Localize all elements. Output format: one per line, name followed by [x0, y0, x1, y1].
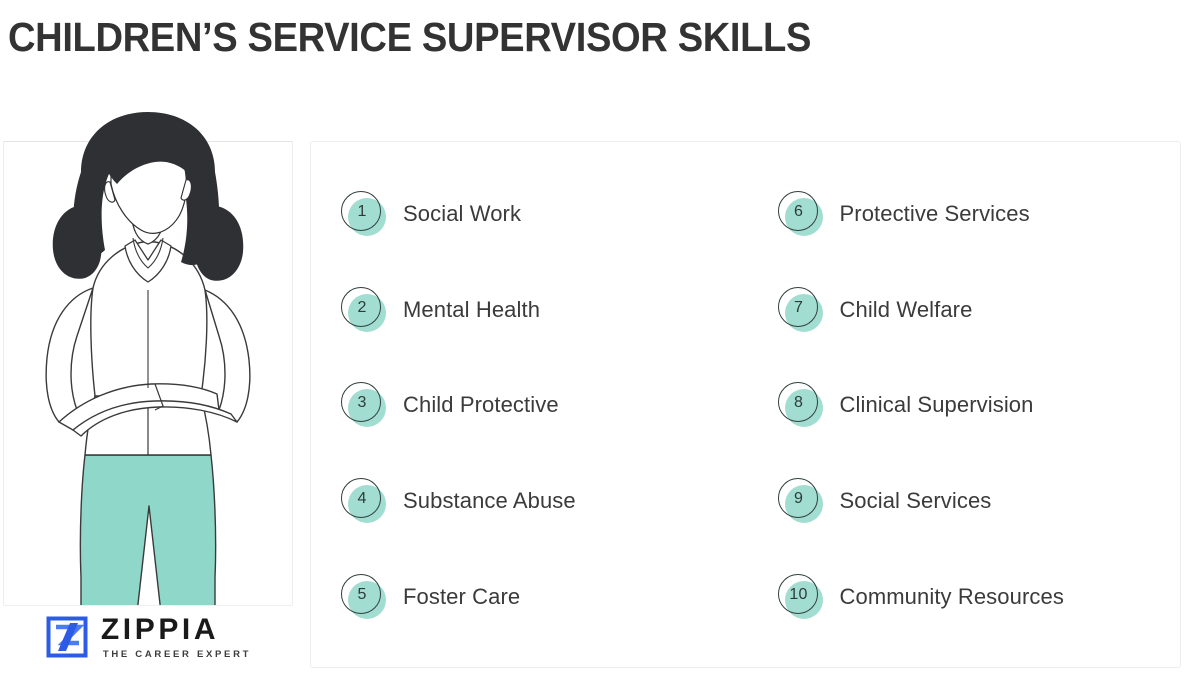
list-item: 6 Protective Services [746, 166, 1181, 262]
badge-number: 9 [778, 478, 820, 520]
list-item: 7 Child Welfare [746, 262, 1181, 358]
list-item: 2 Mental Health [311, 262, 746, 358]
list-item: 4 Substance Abuse [311, 453, 746, 549]
list-item: 9 Social Services [746, 453, 1181, 549]
list-item: 1 Social Work [311, 166, 746, 262]
list-item: 3 Child Protective [311, 358, 746, 454]
skill-label: Child Welfare [840, 297, 973, 323]
number-badge: 1 [341, 191, 387, 237]
infographic-page: CHILDREN’S SERVICE SUPERVISOR SKILLS [0, 0, 1200, 675]
list-item: 10 Community Resources [746, 549, 1181, 645]
skill-label: Protective Services [840, 201, 1030, 227]
skill-label: Clinical Supervision [840, 392, 1034, 418]
skills-list: 1 Social Work 2 Mental Health 3 Child [311, 142, 1180, 667]
list-item: 5 Foster Care [311, 549, 746, 645]
badge-number: 1 [341, 191, 383, 233]
badge-number: 2 [341, 287, 383, 329]
number-badge: 7 [778, 287, 824, 333]
badge-number: 8 [778, 382, 820, 424]
zippia-wordmark: ZIPPIA [101, 615, 251, 645]
zippia-logo: ZIPPIA THE CAREER EXPERT [3, 605, 293, 668]
zippia-tagline: THE CAREER EXPERT [103, 650, 251, 660]
skill-label: Community Resources [840, 584, 1064, 610]
zippia-logo-text: ZIPPIA THE CAREER EXPERT [101, 615, 251, 660]
number-badge: 9 [778, 478, 824, 524]
number-badge: 10 [778, 574, 824, 620]
number-badge: 2 [341, 287, 387, 333]
skill-label: Substance Abuse [403, 488, 576, 514]
badge-number: 3 [341, 382, 383, 424]
woman-arms-crossed-illustration [3, 110, 293, 613]
number-badge: 3 [341, 382, 387, 428]
list-item: 8 Clinical Supervision [746, 358, 1181, 454]
number-badge: 6 [778, 191, 824, 237]
number-badge: 5 [341, 574, 387, 620]
badge-number: 5 [341, 574, 383, 616]
skill-label: Mental Health [403, 297, 540, 323]
skill-label: Child Protective [403, 392, 559, 418]
skill-label: Social Services [840, 488, 992, 514]
badge-number: 7 [778, 287, 820, 329]
skills-panel: 1 Social Work 2 Mental Health 3 Child [310, 141, 1181, 668]
badge-number: 4 [341, 478, 383, 520]
skill-label: Social Work [403, 201, 521, 227]
zippia-z-mark-icon [45, 615, 89, 659]
skill-label: Foster Care [403, 584, 520, 610]
badge-number: 6 [778, 191, 820, 233]
page-title: CHILDREN’S SERVICE SUPERVISOR SKILLS [8, 14, 811, 61]
number-badge: 8 [778, 382, 824, 428]
number-badge: 4 [341, 478, 387, 524]
badge-number: 10 [778, 574, 820, 616]
